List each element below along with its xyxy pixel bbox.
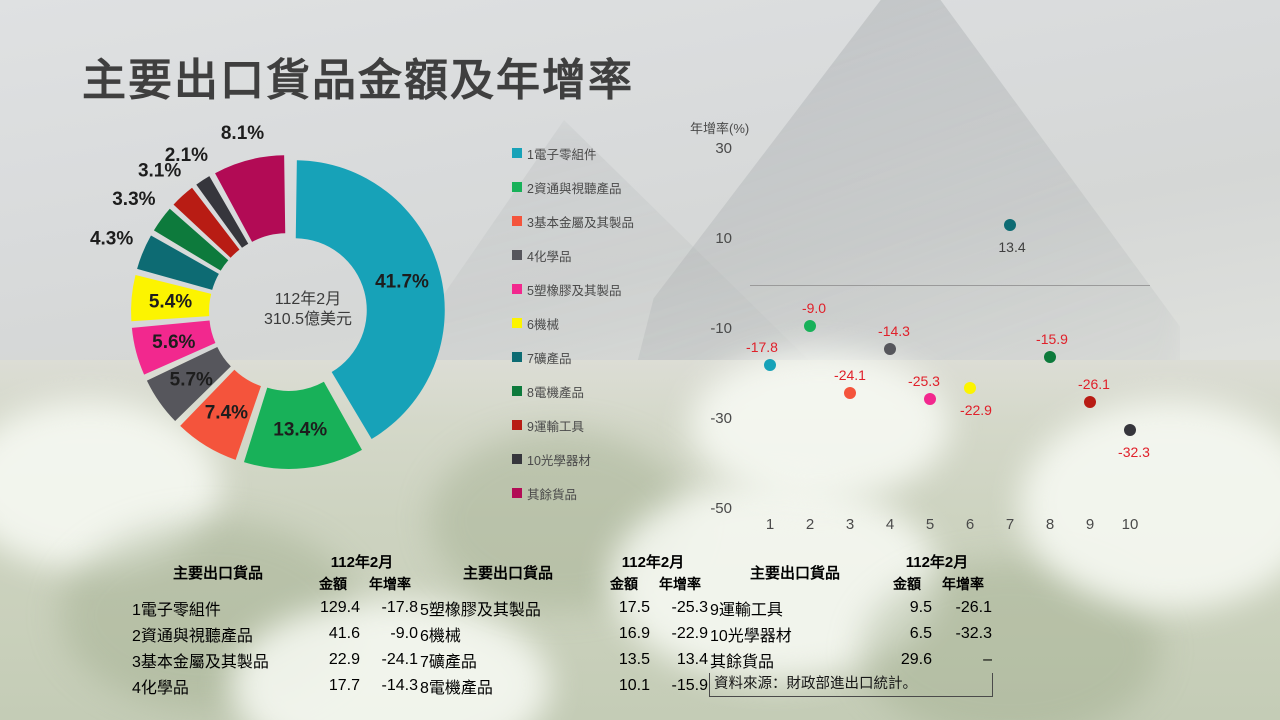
table-row: 5塑橡膠及其製品17.5-25.3 [419, 595, 709, 621]
table-row: 10光學器材6.5-32.3 [709, 621, 993, 647]
legend-color-swatch-icon [512, 148, 522, 158]
scatter-data-point[interactable] [924, 393, 936, 405]
page-title: 主要出口貨品金額及年增率 [82, 44, 634, 108]
legend-item[interactable]: 1電子零組件 [512, 136, 702, 170]
legend-color-swatch-icon [512, 318, 522, 328]
table-cell-growth: -17.8 [361, 595, 419, 621]
legend-item-label: 10光學器材 [527, 450, 591, 469]
scatter-x-tick-label: 3 [838, 516, 862, 533]
table-cell-goods: 6機械 [419, 621, 597, 647]
donut-slice-value-label: 5.6% [152, 332, 195, 353]
donut-slice-value-label: 8.1% [221, 123, 264, 144]
donut-slice-value-label: 13.4% [273, 419, 327, 440]
donut-slice-value-label: 4.3% [90, 229, 133, 250]
scatter-x-tick-label: 4 [878, 516, 902, 533]
table-header-period: 112年2月 [881, 550, 993, 573]
legend-item[interactable]: 2資通與視聽產品 [512, 170, 702, 204]
scatter-point-value-label: -14.3 [878, 323, 910, 339]
table-header-goods: 主要出口貨品 [419, 550, 597, 595]
table-block: 主要出口貨品112年2月金額年增率1電子零組件129.4-17.82資通與視聽產… [131, 550, 419, 699]
legend-color-swatch-icon [512, 352, 522, 362]
table-row: 4化學品17.7-14.3 [131, 673, 419, 699]
table-row: 6機械16.9-22.9 [419, 621, 709, 647]
table-cell-amount: 6.5 [881, 621, 933, 647]
legend-item[interactable]: 10光學器材 [512, 442, 702, 476]
table-header-period: 112年2月 [597, 550, 709, 573]
legend-color-swatch-icon [512, 250, 522, 260]
legend-item-label: 8電機產品 [527, 382, 584, 401]
legend-item[interactable]: 8電機產品 [512, 374, 702, 408]
scatter-x-tick-label: 1 [758, 516, 782, 533]
legend-item-label: 4化學品 [527, 246, 571, 265]
legend-item-label: 7礦產品 [527, 348, 571, 367]
scatter-point-value-label: -22.9 [960, 402, 992, 418]
scatter-data-point[interactable] [1124, 424, 1136, 436]
legend-color-swatch-icon [512, 216, 522, 226]
donut-center-label: 112年2月 310.5億美元 [238, 290, 378, 330]
table-cell-goods: 7礦產品 [419, 647, 597, 673]
table-cell-growth: – [933, 647, 993, 673]
table-header-row-1: 主要出口貨品112年2月 [419, 550, 709, 573]
scatter-data-point[interactable] [1004, 219, 1016, 231]
table-header-amount: 金額 [881, 573, 933, 595]
table-cell-goods: 1電子零組件 [131, 595, 305, 621]
legend-color-swatch-icon [512, 488, 522, 498]
table-block: 主要出口貨品112年2月金額年增率9運輸工具9.5-26.110光學器材6.5-… [709, 550, 993, 699]
scatter-x-tick-label: 2 [798, 516, 822, 533]
table-header-amount: 金額 [305, 573, 361, 595]
table-header-growth: 年增率 [361, 573, 419, 595]
legend-item[interactable]: 3基本金屬及其製品 [512, 204, 702, 238]
scatter-x-tick-label: 8 [1038, 516, 1062, 533]
table-cell-amount: 29.6 [881, 647, 933, 673]
scatter-point-value-label: -9.0 [802, 300, 826, 316]
table-cell-goods: 8電機產品 [419, 673, 597, 699]
scatter-data-point[interactable] [884, 343, 896, 355]
growth-rate-scatter-chart: 年增率(%) 3010-10-30-50 12345678910 -17.8-9… [690, 110, 1170, 530]
donut-slice-value-label: 41.7% [375, 271, 429, 292]
table-header-period: 112年2月 [305, 550, 419, 573]
table-cell-amount: 41.6 [305, 621, 361, 647]
legend-item-label: 1電子零組件 [527, 144, 596, 163]
table-row: 7礦產品13.513.4 [419, 647, 709, 673]
table-header-growth: 年增率 [933, 573, 993, 595]
scatter-x-tick-label: 10 [1118, 516, 1142, 533]
legend-color-swatch-icon [512, 182, 522, 192]
scatter-x-tick-label: 9 [1078, 516, 1102, 533]
table-cell-amount: 16.9 [597, 621, 651, 647]
scatter-data-point[interactable] [1084, 396, 1096, 408]
donut-slice-value-label: 5.4% [149, 292, 192, 313]
table-row: 2資通與視聽產品41.6-9.0 [131, 621, 419, 647]
donut-slice-value-label: 2.1% [165, 145, 208, 166]
table-cell-goods: 4化學品 [131, 673, 305, 699]
donut-center-line1: 112年2月 [238, 290, 378, 310]
scatter-data-point[interactable] [964, 382, 976, 394]
table-cell-goods: 3基本金屬及其製品 [131, 647, 305, 673]
scatter-zero-line [750, 285, 1150, 286]
table-cell-amount: 22.9 [305, 647, 361, 673]
donut-slice-value-label: 5.7% [170, 370, 213, 391]
table-header-row-1: 主要出口貨品112年2月 [131, 550, 419, 573]
legend-item-label: 2資通與視聽產品 [527, 178, 621, 197]
donut-slice-value-label: 7.4% [205, 403, 248, 424]
legend-item[interactable]: 7礦產品 [512, 340, 702, 374]
table-row: 8電機產品10.1-15.9 [419, 673, 709, 699]
table-cell-growth: -15.9 [651, 673, 709, 699]
table-row: 其餘貨品29.6– [709, 647, 993, 673]
table-cell-amount: 13.5 [597, 647, 651, 673]
table-cell-goods: 9運輸工具 [709, 595, 881, 621]
table-header-goods: 主要出口貨品 [709, 550, 881, 595]
legend-color-swatch-icon [512, 420, 522, 430]
table-header-row-1: 主要出口貨品112年2月 [709, 550, 993, 573]
legend-item-label: 9運輸工具 [527, 416, 584, 435]
table-header-growth: 年增率 [651, 573, 709, 595]
legend-item[interactable]: 6機械 [512, 306, 702, 340]
table-cell-growth: 13.4 [651, 647, 709, 673]
legend-item[interactable]: 4化學品 [512, 238, 702, 272]
table-block: 主要出口貨品112年2月金額年增率5塑橡膠及其製品17.5-25.36機械16.… [419, 550, 709, 699]
table-row: 3基本金屬及其製品22.9-24.1 [131, 647, 419, 673]
table-cell-goods: 10光學器材 [709, 621, 881, 647]
table-cell-amount: 129.4 [305, 595, 361, 621]
scatter-y-axis-title: 年增率(%) [690, 118, 749, 137]
table-cell-growth: -22.9 [651, 621, 709, 647]
scatter-data-point[interactable] [764, 359, 776, 371]
scatter-point-value-label: -26.1 [1078, 376, 1110, 392]
table-cell-goods: 2資通與視聽產品 [131, 621, 305, 647]
scatter-x-tick-label: 5 [918, 516, 942, 533]
donut-slice[interactable] [215, 155, 285, 242]
table-row: 1電子零組件129.4-17.8 [131, 595, 419, 621]
legend-color-swatch-icon [512, 454, 522, 464]
scatter-x-tick-label: 7 [998, 516, 1022, 533]
scatter-data-point[interactable] [804, 320, 816, 332]
scatter-point-value-label: 13.4 [998, 239, 1025, 255]
legend-item[interactable]: 9運輸工具 [512, 408, 702, 442]
legend-item-label: 6機械 [527, 314, 559, 333]
table-cell-amount: 10.1 [597, 673, 651, 699]
legend-item-label: 3基本金屬及其製品 [527, 212, 634, 231]
scatter-x-tick-label: 6 [958, 516, 982, 533]
legend-item-label: 5塑橡膠及其製品 [527, 280, 621, 299]
table-cell-growth: -25.3 [651, 595, 709, 621]
table-cell-goods: 5塑橡膠及其製品 [419, 595, 597, 621]
table-cell-goods: 其餘貨品 [709, 647, 881, 673]
table-cell-amount: 17.7 [305, 673, 361, 699]
legend-color-swatch-icon [512, 284, 522, 294]
legend-item-label: 其餘貨品 [527, 484, 577, 503]
table-cell-amount: 17.5 [597, 595, 651, 621]
scatter-point-value-label: -32.3 [1118, 444, 1150, 460]
table-cell-growth: -9.0 [361, 621, 419, 647]
scatter-point-value-label: -25.3 [908, 373, 940, 389]
donut-center-line2: 310.5億美元 [238, 310, 378, 330]
table-cell-growth: -14.3 [361, 673, 419, 699]
export-goods-table: 主要出口貨品112年2月金額年增率1電子零組件129.4-17.82資通與視聽產… [131, 550, 993, 699]
scatter-point-value-label: -15.9 [1036, 331, 1068, 347]
table-cell-growth: -26.1 [933, 595, 993, 621]
table-cell-growth: -24.1 [361, 647, 419, 673]
legend-item[interactable]: 其餘貨品 [512, 476, 702, 510]
table-cell-growth: -32.3 [933, 621, 993, 647]
scatter-data-point[interactable] [1044, 351, 1056, 363]
source-note: 資料來源：財政部進出口統計。 [709, 673, 993, 697]
table-header-goods: 主要出口貨品 [131, 550, 305, 595]
table-row: 9運輸工具9.5-26.1 [709, 595, 993, 621]
legend-color-swatch-icon [512, 386, 522, 396]
legend-item[interactable]: 5塑橡膠及其製品 [512, 272, 702, 306]
scatter-point-value-label: -17.8 [746, 339, 778, 355]
table-header-amount: 金額 [597, 573, 651, 595]
scatter-data-point[interactable] [844, 387, 856, 399]
chart-legend: 1電子零組件2資通與視聽產品3基本金屬及其製品4化學品5塑橡膠及其製品6機械7礦… [512, 136, 702, 510]
scatter-point-value-label: -24.1 [834, 367, 866, 383]
donut-slice-value-label: 3.3% [112, 189, 155, 210]
table-cell-amount: 9.5 [881, 595, 933, 621]
